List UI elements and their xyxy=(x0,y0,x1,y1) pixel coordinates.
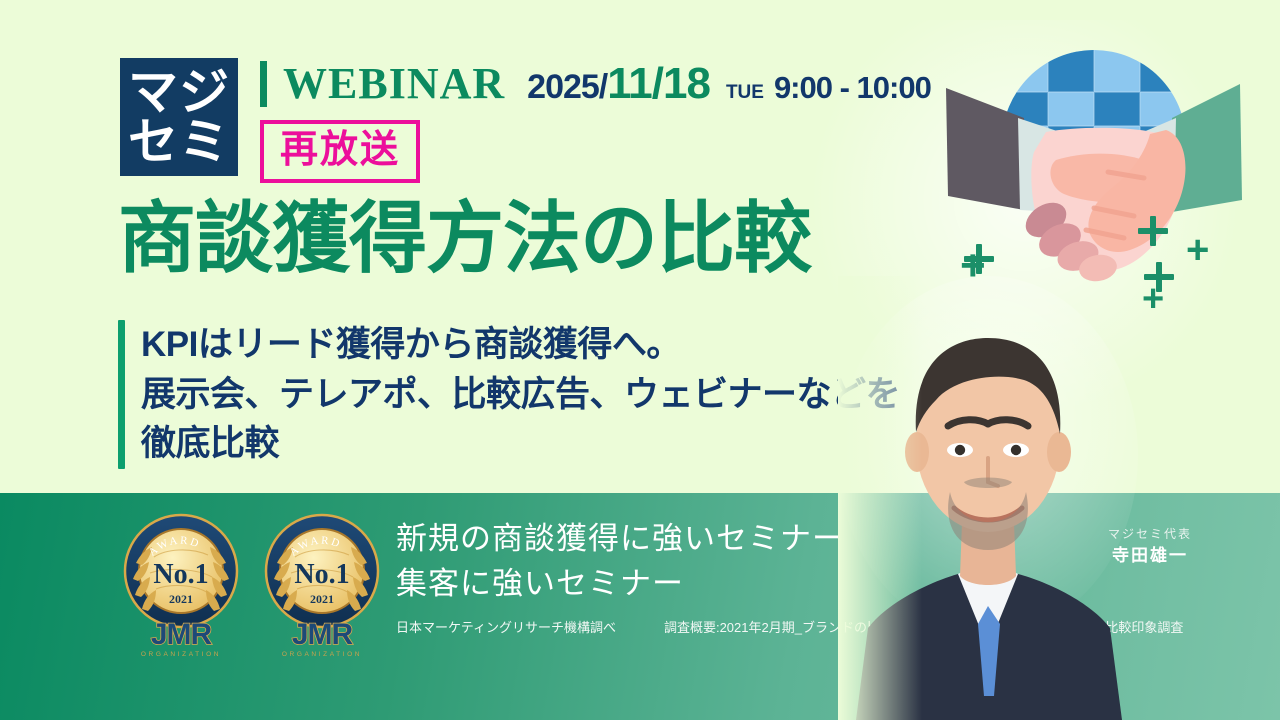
date-year: 2025/ xyxy=(527,68,607,107)
svg-text:No.1: No.1 xyxy=(153,559,208,590)
award-medals: AWARD No.1 2021 JMR ORGANIZATION xyxy=(120,511,384,661)
speaker-role: マジセミ代表 xyxy=(1108,525,1192,543)
webinar-label: WEBINAR xyxy=(283,62,505,106)
award-medal: AWARD No.1 2021 JMR ORGANIZATION xyxy=(261,511,384,661)
handshake-globe-illustration xyxy=(928,22,1260,312)
speaker-name: 寺田雄一 xyxy=(1108,543,1192,569)
svg-text:No.1: No.1 xyxy=(294,559,349,590)
tagline-line-2: 集客に強いセミナー xyxy=(396,562,844,607)
svg-text:JMR: JMR xyxy=(151,618,213,651)
subtitle-block: KPIはリード獲得から商談獲得へ。 展示会、テレアポ、比較広告、ウェビナーなどを… xyxy=(118,320,900,469)
award-medal-graphic: AWARD No.1 2021 JMR ORGANIZATION xyxy=(261,511,384,661)
svg-text:2021: 2021 xyxy=(310,592,334,606)
footnote-source: 日本マーケティングリサーチ機構調べ xyxy=(396,617,616,636)
subtitle-accent-bar xyxy=(118,320,125,469)
time-range: 9:00 - 10:00 xyxy=(774,70,931,106)
logo-line-1: マジ xyxy=(128,67,230,117)
day-of-week: TUE xyxy=(726,82,764,104)
date-day: 11/18 xyxy=(607,59,710,109)
bottom-tagline: 新規の商談獲得に強いセミナー 集客に強いセミナー xyxy=(396,517,844,607)
webinar-accent-bar xyxy=(260,61,267,107)
subtitle-line-1: KPIはリード獲得から商談獲得へ。 xyxy=(141,320,900,370)
rerun-badge: 再放送 xyxy=(260,120,420,183)
award-medal-graphic: AWARD No.1 2021 JMR ORGANIZATION xyxy=(120,511,243,661)
speaker-portrait xyxy=(838,276,1138,720)
right-sleeve xyxy=(1172,84,1242,212)
tagline-line-1: 新規の商談獲得に強いセミナー xyxy=(396,517,844,562)
svg-text:ORGANIZATION: ORGANIZATION xyxy=(141,651,221,658)
speaker-caption: マジセミ代表 寺田雄一 xyxy=(1108,525,1192,569)
svg-text:JMR: JMR xyxy=(292,618,354,651)
schedule: 2025/ 11/18 TUE 9:00 - 10:00 xyxy=(527,59,931,109)
award-medal: AWARD No.1 2021 JMR ORGANIZATION xyxy=(120,511,243,661)
subtitle-line-3: 徹底比較 xyxy=(141,419,900,469)
svg-text:ORGANIZATION: ORGANIZATION xyxy=(282,651,362,658)
logo-line-2: セミ xyxy=(128,117,230,167)
subtitle-line-2: 展示会、テレアポ、比較広告、ウェビナーなどを xyxy=(141,370,900,420)
majisemi-logo[interactable]: マジ セミ xyxy=(120,58,238,176)
page-title: 商談獲得方法の比較 xyxy=(118,196,811,280)
webinar-banner: マジ セミ WEBINAR 2025/ 11/18 TUE 9:00 - 10:… xyxy=(0,0,1280,720)
banner-header: マジ セミ WEBINAR 2025/ 11/18 TUE 9:00 - 10:… xyxy=(120,58,931,183)
svg-text:2021: 2021 xyxy=(169,592,193,606)
